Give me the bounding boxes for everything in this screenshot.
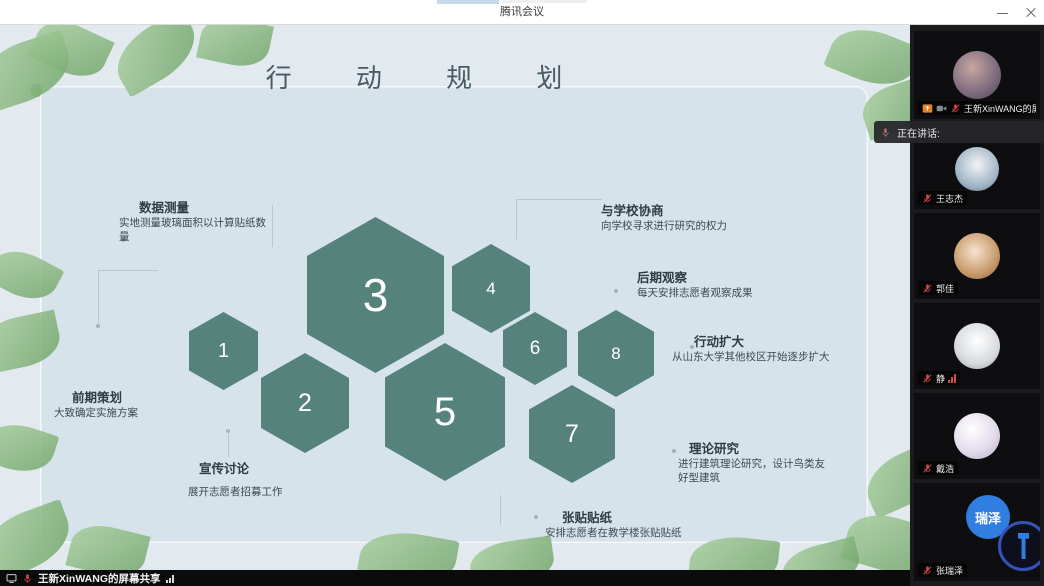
label-desc: 每天安排志愿者观察成果 xyxy=(637,286,817,300)
label-title: 理论研究 xyxy=(689,438,869,457)
slide-label-xingdong-kuoda: 行动扩大 从山东大学其他校区开始逐步扩大 xyxy=(694,331,864,364)
signal-icon xyxy=(948,374,956,383)
label-title: 后期观察 xyxy=(637,267,827,286)
label-desc: 从山东大学其他校区开始逐步扩大 xyxy=(672,350,832,364)
participant-tile[interactable]: 静 xyxy=(914,303,1040,389)
participant-rail[interactable]: 王新XinWANG的屏幕共... 正在讲话: 王志杰 xyxy=(910,25,1044,586)
participant-name: 王新XinWANG的屏幕共... xyxy=(964,102,1036,115)
label-desc: 实地测量玻璃面积以计算贴纸数量 xyxy=(119,216,269,244)
microphone-icon xyxy=(880,127,891,138)
hexagon-number: 4 xyxy=(486,279,495,299)
logo-badge-icon xyxy=(998,521,1040,571)
participant-tile[interactable]: 王新XinWANG的屏幕共... xyxy=(914,31,1040,119)
participant-tile[interactable]: 郭佳 xyxy=(914,213,1040,299)
participant-name-chip: 郭佳 xyxy=(918,281,958,295)
participant-name-chip: 戴浩 xyxy=(918,461,958,475)
label-desc: 进行建筑理论研究，设计鸟类友好型建筑 xyxy=(678,457,826,485)
share-owner-label: 王新XinWANG的屏幕共享 xyxy=(38,571,161,586)
slide-label-lilun-yanjiu: 理论研究 进行建筑理论研究，设计鸟类友好型建筑 xyxy=(689,438,869,485)
hexagon-number: 2 xyxy=(298,389,312,418)
meeting-stage: 行 动 规 划 1 2 3 4 5 6 xyxy=(0,25,1044,586)
avatar xyxy=(954,413,1000,459)
participant-name: 郭佳 xyxy=(936,282,954,295)
label-title: 张贴贴纸 xyxy=(562,507,742,526)
avatar xyxy=(954,233,1000,279)
minimize-icon[interactable] xyxy=(996,6,1010,20)
participant-name-chip: 王新XinWANG的屏幕共... xyxy=(918,101,1036,115)
avatar xyxy=(954,323,1000,369)
signal-icon xyxy=(166,574,174,583)
slide-label-zhangtie-tiezhi: 张贴贴纸 安排志愿者在教学楼张贴贴纸 xyxy=(562,507,742,540)
connector-line xyxy=(98,270,99,326)
window-controls xyxy=(996,0,1038,25)
connector-line xyxy=(516,199,602,200)
microphone-muted-icon xyxy=(922,565,933,576)
avatar xyxy=(953,51,1001,99)
connector-dot xyxy=(534,515,538,519)
camera-icon xyxy=(936,103,947,114)
label-title: 宣传讨论 xyxy=(199,458,379,477)
microphone-muted-icon xyxy=(922,193,933,204)
connector-line xyxy=(98,270,158,271)
participant-name-chip: 静 xyxy=(918,371,960,385)
participant-name: 王志杰 xyxy=(936,192,963,205)
slide-label-qianqi-cehua: 前期策划 大致确定实施方案 xyxy=(72,387,242,420)
label-title: 与学校协商 xyxy=(601,200,771,219)
participant-name-chip: 王志杰 xyxy=(918,191,967,205)
slide-label-yu-xuexiao-xieshang: 与学校协商 向学校寻求进行研究的权力 xyxy=(601,200,771,233)
window-title: 腾讯会议 xyxy=(0,0,1044,25)
label-desc: 展开志愿者招募工作 xyxy=(188,485,358,499)
participant-tile[interactable]: 戴浩 xyxy=(914,393,1040,479)
shared-screen-area[interactable]: 行 动 规 划 1 2 3 4 5 6 xyxy=(0,25,910,570)
hexagon-number: 1 xyxy=(218,340,229,363)
speaking-label: 正在讲话: xyxy=(897,125,940,140)
slide-label-houqi-guancha: 后期观察 每天安排志愿者观察成果 xyxy=(637,267,827,300)
participant-name: 静 xyxy=(936,372,945,385)
speaking-indicator: 正在讲话: xyxy=(874,121,1044,143)
avatar xyxy=(955,147,999,191)
slide-label-xuanchuan-taolun: 宣传讨论 展开志愿者招募工作 xyxy=(199,458,379,499)
connector-line xyxy=(516,199,517,239)
microphone-muted-icon xyxy=(922,373,933,384)
connector-dot xyxy=(672,449,676,453)
hexagon-number: 5 xyxy=(434,390,456,435)
close-icon[interactable] xyxy=(1024,6,1038,20)
participant-name-chip: 张瑞泽 xyxy=(918,563,967,577)
monitor-icon xyxy=(6,573,17,584)
connector-line xyxy=(500,495,501,525)
slide-label-shuju-celiang: 数据测量 实地测量玻璃面积以计算贴纸数量 xyxy=(139,197,309,244)
hexagon-number: 6 xyxy=(530,338,541,360)
screen-share-status-bar: 王新XinWANG的屏幕共享 xyxy=(0,570,910,586)
microphone-muted-icon xyxy=(922,283,933,294)
participant-name: 戴浩 xyxy=(936,462,954,475)
hexagon-number: 8 xyxy=(611,344,620,364)
connector-dot xyxy=(614,289,618,293)
hexagon-number: 7 xyxy=(565,420,579,449)
microphone-muted-icon xyxy=(22,573,33,584)
label-desc: 大致确定实施方案 xyxy=(54,406,214,420)
microphone-muted-icon xyxy=(922,463,933,474)
hexagon-number: 3 xyxy=(363,268,389,322)
label-desc: 向学校寻求进行研究的权力 xyxy=(601,219,741,233)
share-icon xyxy=(922,103,933,114)
microphone-muted-icon xyxy=(950,103,961,114)
label-desc: 安排志愿者在教学楼张贴贴纸 xyxy=(545,526,685,540)
participant-name: 张瑞泽 xyxy=(936,564,963,577)
participant-tile[interactable]: 瑞泽 张瑞泽 xyxy=(914,483,1040,581)
label-title: 前期策划 xyxy=(72,387,242,406)
label-title: 数据测量 xyxy=(139,197,309,216)
window-title-bar: 腾讯会议 xyxy=(0,0,1044,25)
label-title: 行动扩大 xyxy=(694,331,864,350)
connector-line xyxy=(228,429,229,457)
